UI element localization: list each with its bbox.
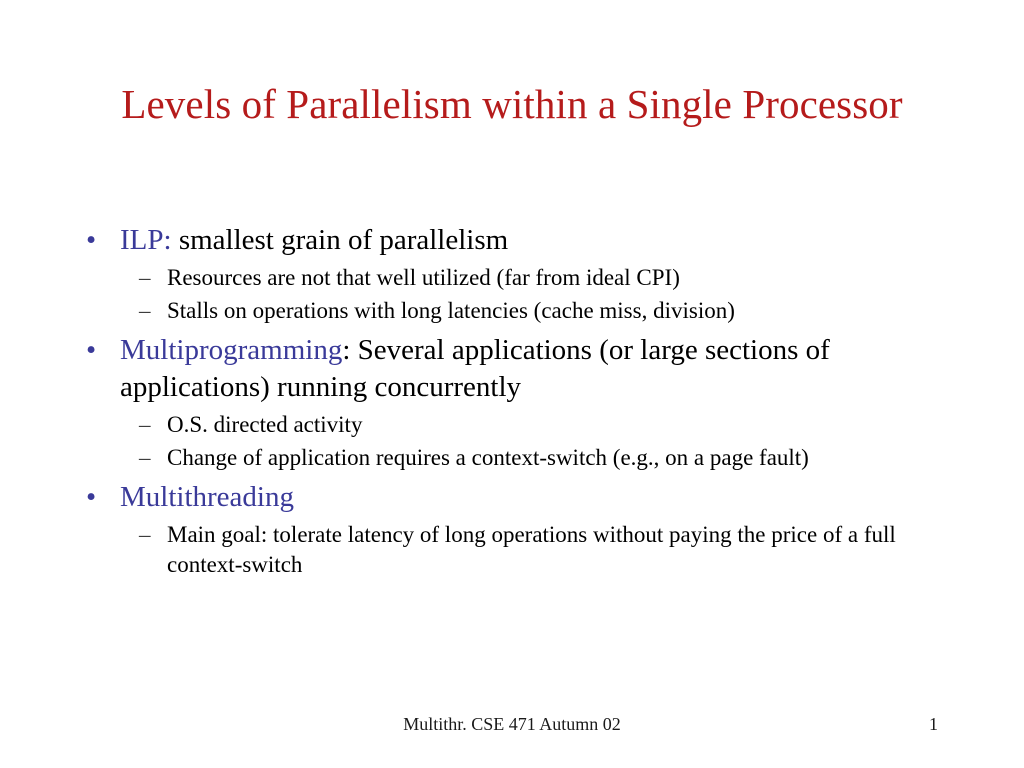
bullet-keyword: ILP: bbox=[120, 224, 172, 256]
bullet-item: •ILP: smallest grain of parallelism bbox=[82, 222, 962, 259]
sub-bullet-item: –Resources are not that well utilized (f… bbox=[82, 263, 962, 293]
page-number: 1 bbox=[929, 712, 938, 736]
sub-bullet-text: Change of application requires a context… bbox=[167, 445, 809, 470]
bullet-item: •Multiprogramming: Several applications … bbox=[82, 332, 962, 406]
page-title: Levels of Parallelism within a Single Pr… bbox=[62, 78, 962, 131]
sub-bullet-text: Stalls on operations with long latencies… bbox=[167, 298, 735, 323]
slide-canvas: Levels of Parallelism within a Single Pr… bbox=[0, 0, 1024, 768]
bullet-dot-icon: • bbox=[86, 332, 96, 369]
sub-bullet-item: –O.S. directed activity bbox=[82, 410, 962, 440]
sub-bullet-dash-icon: – bbox=[139, 263, 151, 293]
sub-bullet-text: Resources are not that well utilized (fa… bbox=[167, 265, 680, 290]
sub-bullet-item: –Change of application requires a contex… bbox=[82, 443, 962, 473]
sub-bullet-item: –Stalls on operations with long latencie… bbox=[82, 296, 962, 326]
title-block: Levels of Parallelism within a Single Pr… bbox=[62, 78, 962, 131]
sub-bullet-text: O.S. directed activity bbox=[167, 412, 362, 437]
bullet-item: •Multithreading bbox=[82, 479, 962, 516]
bullet-keyword: Multithreading bbox=[120, 481, 294, 513]
sub-bullet-dash-icon: – bbox=[139, 296, 151, 326]
sub-bullet-text: Main goal: tolerate latency of long oper… bbox=[167, 522, 896, 577]
bullet-dot-icon: • bbox=[86, 222, 96, 259]
sub-bullet-dash-icon: – bbox=[139, 520, 151, 550]
bullet-text: smallest grain of parallelism bbox=[172, 224, 509, 256]
sub-bullet-dash-icon: – bbox=[139, 443, 151, 473]
slide-body: •ILP: smallest grain of parallelism –Res… bbox=[82, 222, 962, 580]
slide-footer: Multithr. CSE 471 Autumn 02 1 bbox=[0, 712, 1024, 742]
bullet-keyword: Multiprogramming bbox=[120, 334, 342, 366]
footer-label: Multithr. CSE 471 Autumn 02 bbox=[0, 712, 1024, 736]
sub-bullet-item: –Main goal: tolerate latency of long ope… bbox=[82, 520, 962, 580]
sub-bullet-dash-icon: – bbox=[139, 410, 151, 440]
bullet-dot-icon: • bbox=[86, 479, 96, 516]
